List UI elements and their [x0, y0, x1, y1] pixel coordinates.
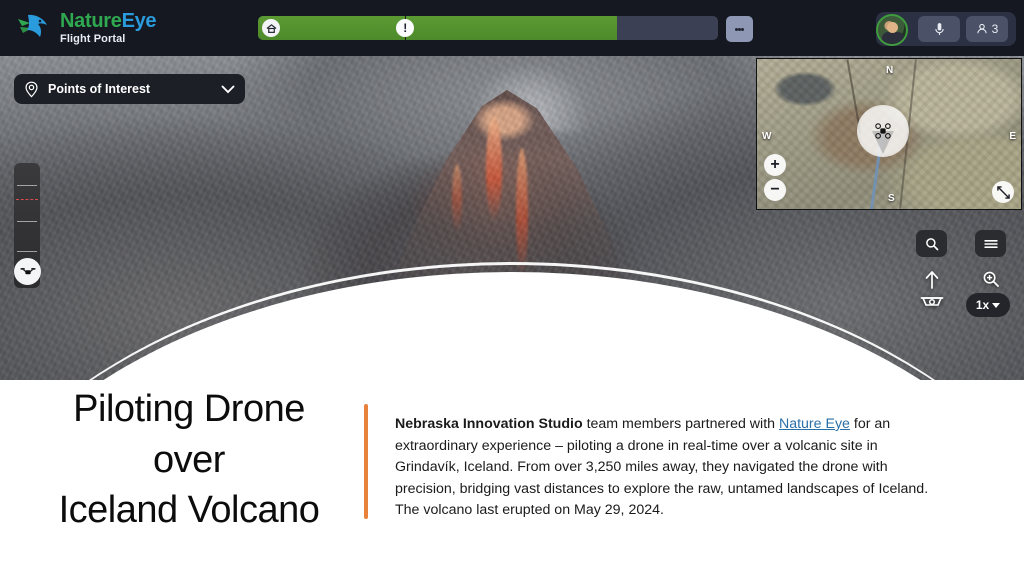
user-avatar[interactable] [876, 14, 908, 46]
brand-name: NatureEye [60, 11, 156, 31]
brand-name-part2: Eye [122, 10, 157, 32]
participants-count: 3 [992, 22, 999, 36]
arrow-up-icon[interactable] [924, 270, 940, 295]
slider-tick [17, 221, 37, 222]
list-lines-icon [984, 239, 998, 249]
zoom-level-selector[interactable]: 1x [966, 293, 1010, 317]
expand-arrows-icon[interactable] [992, 181, 1014, 203]
zoom-in-icon[interactable] [982, 270, 1000, 293]
kebab-dot [741, 28, 744, 31]
zoom-level-value: 1x [976, 298, 989, 312]
person-icon [976, 23, 988, 35]
participants-button[interactable]: 3 [966, 16, 1008, 42]
flight-progress-bar[interactable]: ! [258, 16, 718, 40]
compass-north-label: N [886, 65, 893, 76]
minimap-drone-glyph [875, 123, 891, 139]
slider-tick [17, 251, 37, 252]
screenshot-root: NatureEye Flight Portal ! [0, 0, 1024, 576]
avatar-face [887, 22, 898, 33]
headline-line-3: Iceland Volcano [24, 485, 354, 536]
slider-tick [17, 185, 37, 186]
list-lines-button[interactable] [975, 230, 1006, 257]
minimap-zoom-in-button[interactable]: + [764, 154, 786, 176]
map-pin-icon [24, 81, 39, 98]
minimap[interactable]: N S E W + − [756, 58, 1022, 210]
drone-marker-icon [857, 105, 909, 157]
points-of-interest-dropdown[interactable]: Points of Interest [14, 74, 245, 104]
body-bold-lead: Nebraska Innovation Studio [395, 416, 583, 432]
drone-app-window: NatureEye Flight Portal ! [0, 0, 1024, 380]
bird-logo-icon [14, 10, 54, 46]
microphone-button[interactable] [918, 16, 960, 42]
chevron-down-icon [221, 85, 235, 94]
body-text-1: team members partnered with [583, 416, 779, 432]
headline-line-1: Piloting Drone [24, 384, 354, 435]
brand-subtitle: Flight Portal [60, 34, 156, 45]
microphone-icon [934, 22, 945, 37]
accent-divider-bar [364, 404, 368, 519]
avatar-body [882, 32, 904, 46]
page-title: Piloting Drone over Iceland Volcano [24, 384, 354, 536]
compass-east-label: E [1009, 131, 1016, 142]
minimap-zoom-out-button[interactable]: − [764, 179, 786, 201]
app-topbar: NatureEye Flight Portal ! [0, 0, 1024, 56]
points-of-interest-label: Points of Interest [48, 82, 221, 96]
camera-dome-icon[interactable] [920, 294, 944, 321]
caret-down-icon [992, 303, 1000, 308]
compass-west-label: W [762, 131, 771, 142]
search-magnifier-icon [925, 237, 939, 251]
brand-logo: NatureEye Flight Portal [14, 10, 156, 46]
slider-knob-drone-icon[interactable] [14, 258, 41, 285]
brand-name-part1: Nature [60, 10, 122, 32]
more-options-button[interactable] [726, 16, 753, 42]
home-icon[interactable] [262, 19, 280, 37]
headline-line-2: over [24, 435, 354, 486]
slider-limit-line [16, 199, 38, 200]
body-paragraph: Nebraska Innovation Studio team members … [395, 414, 935, 522]
progress-fill [258, 16, 617, 40]
compass-south-label: S [888, 193, 895, 204]
search-magnifier-button[interactable] [916, 230, 947, 257]
nature-eye-link[interactable]: Nature Eye [779, 416, 850, 432]
